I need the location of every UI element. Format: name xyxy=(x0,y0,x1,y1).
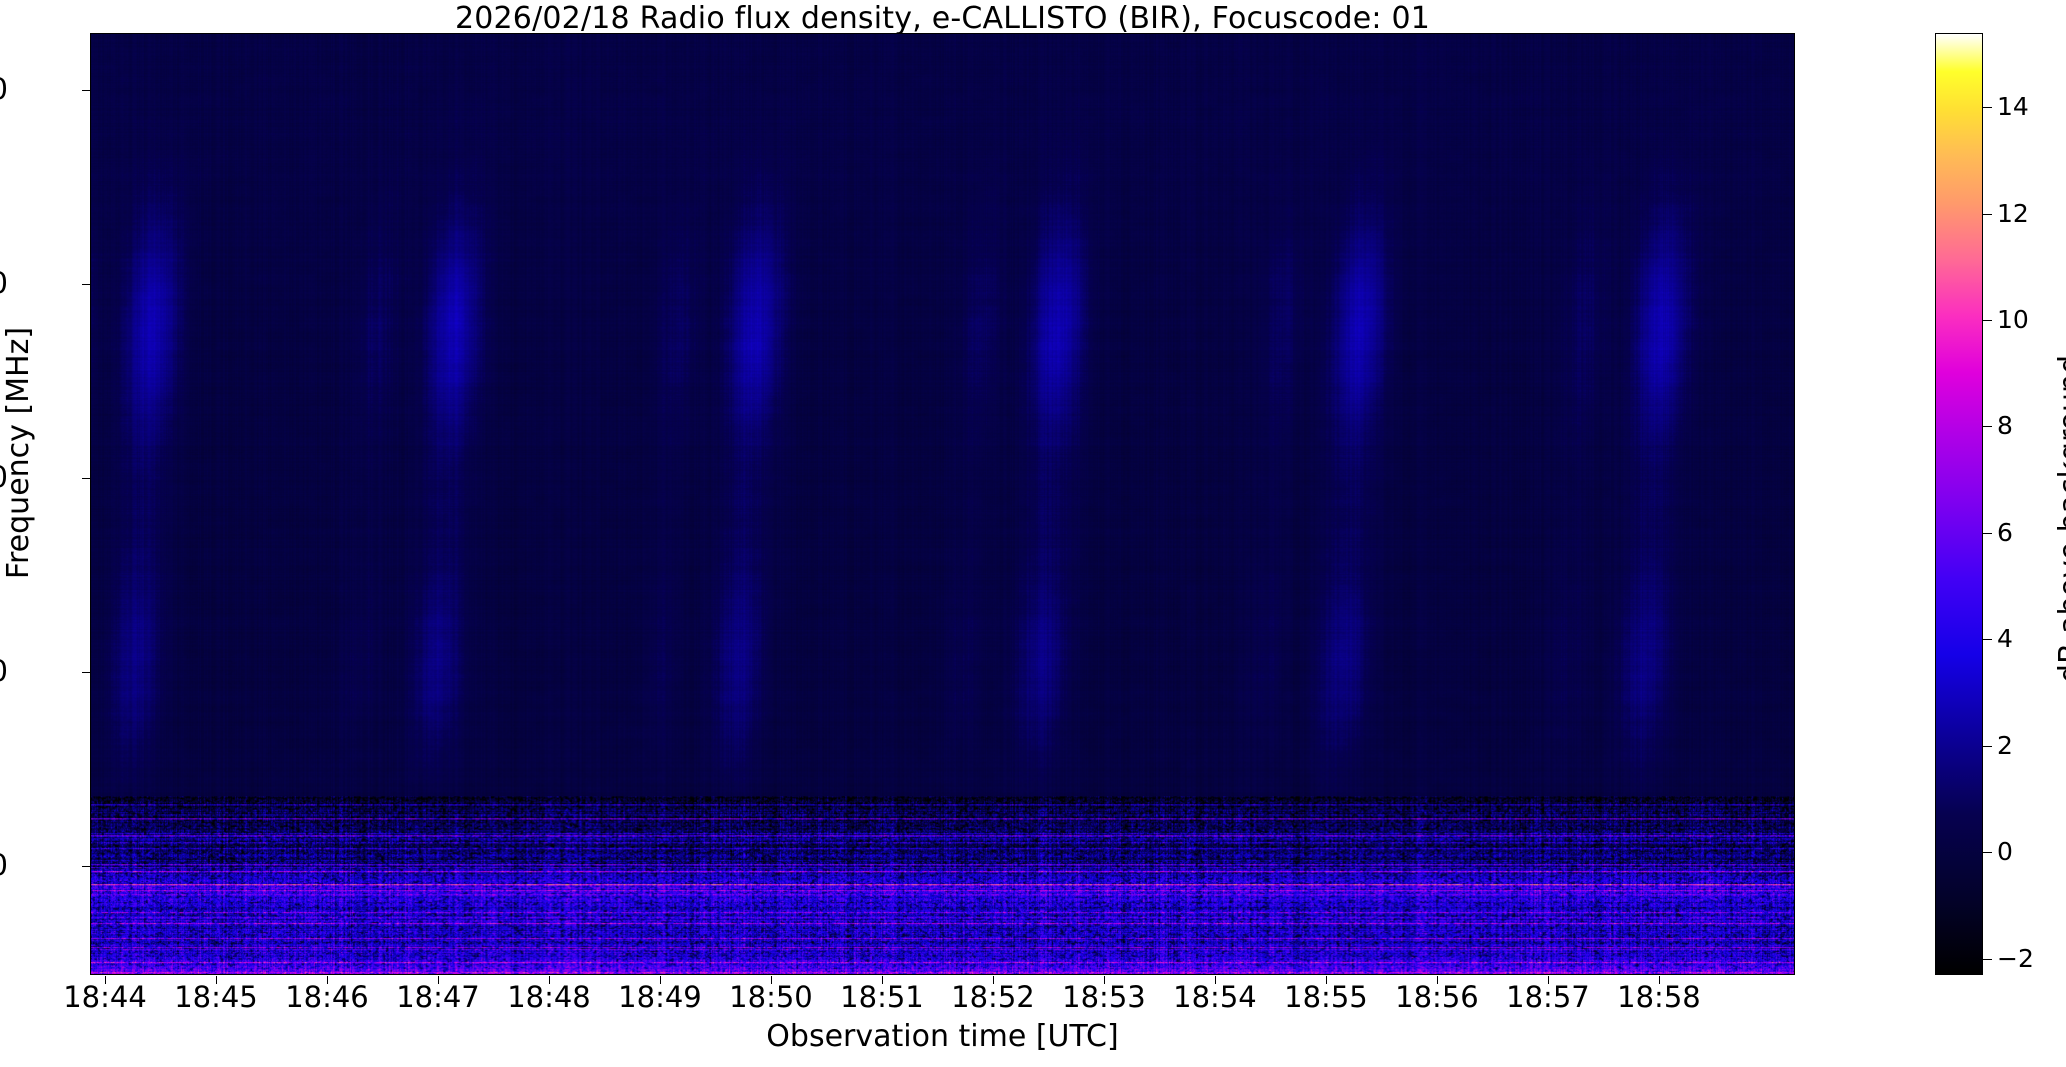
colorbar-tick-mark xyxy=(1983,320,1992,321)
colorbar-tick-label: 8 xyxy=(1997,413,2059,438)
spectrogram-image xyxy=(91,34,1794,974)
y-tick-label: 100 xyxy=(0,75,8,104)
colorbar-tick-mark xyxy=(1983,852,1992,853)
colorbar-tick-label: 10 xyxy=(1997,307,2059,332)
colorbar-tick-label: 6 xyxy=(1997,520,2059,545)
spectrogram-plot-area[interactable] xyxy=(90,33,1795,975)
y-axis-label: Frequency [MHz] xyxy=(4,0,34,924)
colorbar-tick-label: 0 xyxy=(1997,839,2059,864)
colorbar-tick-mark xyxy=(1983,426,1992,427)
colorbar-tick-mark xyxy=(1983,959,1992,960)
y-tick-mark xyxy=(82,284,90,285)
colorbar-tick-label: −2 xyxy=(1997,946,2059,971)
y-tick-label: 40 xyxy=(0,657,8,686)
colorbar-tick-mark xyxy=(1983,214,1992,215)
colorbar-label: dB above background xyxy=(2056,48,2066,990)
colorbar[interactable] xyxy=(1935,33,1983,975)
colorbar-tick-mark xyxy=(1983,746,1992,747)
colorbar-gradient xyxy=(1936,34,1982,974)
y-tick-mark xyxy=(82,672,90,673)
colorbar-tick-label: 12 xyxy=(1997,201,2059,226)
colorbar-tick-mark xyxy=(1983,639,1992,640)
x-tick-label: 18:58 xyxy=(1574,983,1744,1012)
colorbar-tick-mark xyxy=(1983,107,1992,108)
y-tick-mark xyxy=(82,866,90,867)
colorbar-tick-label: 4 xyxy=(1997,626,2059,651)
y-tick-mark xyxy=(82,478,90,479)
page-title: 2026/02/18 Radio flux density, e-CALLIST… xyxy=(0,4,1885,34)
y-tick-label: 60 xyxy=(0,463,8,492)
colorbar-tick-label: 14 xyxy=(1997,94,2059,119)
y-tick-mark xyxy=(82,90,90,91)
colorbar-tick-mark xyxy=(1983,533,1992,534)
x-axis-label: Observation time [UTC] xyxy=(90,1022,1795,1052)
colorbar-tick-label: 2 xyxy=(1997,733,2059,758)
y-tick-label: 80 xyxy=(0,269,8,298)
y-tick-label: 20 xyxy=(0,851,8,880)
